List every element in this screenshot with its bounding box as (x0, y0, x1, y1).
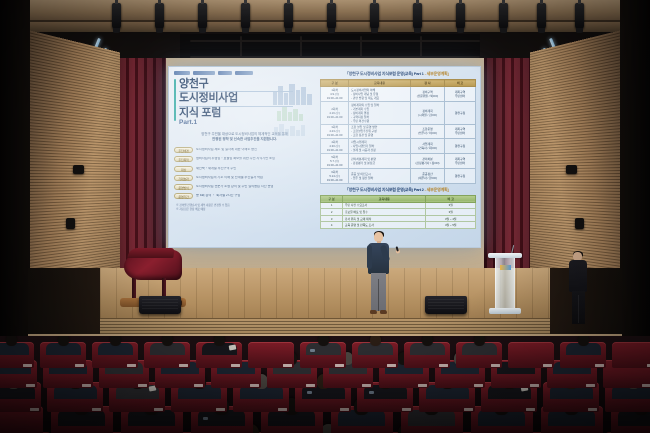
spotlight (537, 3, 546, 29)
table2-cell-no: 3 (321, 215, 343, 222)
auditorium-scene: 양천구 도시정비사업 지식 포럼 Part.1 양천구 주민을 대상으로 도시정… (0, 0, 650, 433)
table1-cell-session: 6회차5.14.(수)19:00~21:00 (321, 168, 349, 183)
table2-cell-no: 2 (321, 209, 343, 216)
bullet-row: 추진목적정비사업의 투명성・효율성 확보를 위한 주민 지식기반 조성 (174, 156, 315, 162)
table-row: 4회차4.30.(수)19:00~21:00사업시행계획- 사업시행인가 절차-… (321, 139, 476, 154)
bullet-badge: 대상 (174, 166, 193, 172)
table2-cell-content: 교육 운영 및 만족도 조사 (342, 222, 426, 229)
bullet-row: 운영기간총 6회 강의 ・ 회차별 2시간 구성 (174, 193, 315, 199)
slide-bullet-list: 추진배경도시정비사업 제도 및 절차에 대한 이해도 증진추진목적정비사업의 투… (174, 147, 315, 199)
slide-footnotes: ※ 강의별 진행순서 및 세부 내용은 변경될 수 있음※ 자료집은 현장 배포… (174, 204, 315, 212)
bullet-text: 도시정비사업 전문가 초청 강의 및 주민 질의응답 시간 운영 (196, 185, 273, 189)
wall-light-right (575, 218, 584, 229)
table2-cell-note: 3월 ~ 4월 (426, 215, 476, 222)
table-row: 4교육 운영 및 만족도 조사4월 ~ 5월 (321, 222, 476, 229)
table2-caption: 「양천구 도시정비사업 지식포럼 운영(교육) Part 2 - 세부운영계획」 (320, 187, 476, 193)
table2-column-header: 교육내용 (342, 195, 426, 202)
table2-cell-note: 3월 (426, 202, 476, 209)
slide-title-line-3: 지식 포럼 (179, 107, 315, 119)
seat-number-label (526, 408, 535, 411)
table2-column-header: 비 고 (426, 195, 476, 202)
seat-number-label (586, 384, 595, 387)
organization-logo-icon (218, 71, 232, 75)
table-row: 1회차4.9.(수)19:00~21:00도시정비사업의 이해- 정비사업 개념… (321, 87, 476, 102)
title-accent-bar (174, 79, 176, 121)
bullet-text: 도시정비사업 제도 및 절차에 대한 이해도 증진 (196, 148, 257, 152)
stage-monitor-speaker-left (139, 296, 181, 314)
seat-number-label (250, 384, 259, 387)
seat-number-label (92, 408, 101, 411)
table1-cell-session: 1회차4.9.(수)19:00~21:00 (321, 87, 349, 102)
phone-screen (203, 417, 208, 420)
wall-speaker-left (73, 165, 84, 174)
table2-cell-content: 강사 위촉 및 교재 제작 (342, 215, 426, 222)
handout-paper (228, 344, 236, 350)
audience-seat (508, 342, 554, 368)
presenter-shoe (380, 310, 387, 314)
phone-screen (310, 349, 315, 352)
bullet-text: 총 6회 강의 ・ 회차별 2시간 구성 (196, 194, 240, 198)
seat-number-label (595, 364, 604, 367)
table1-cell-lecturer: 사업계획(건축사 / 최OO) (410, 139, 444, 154)
table2-caption-text: 「양천구 도시정비사업 지식포럼 운영(교육) Part 2 (345, 187, 424, 192)
audience-member-head (58, 336, 69, 346)
wall-speaker-right (566, 165, 577, 174)
spotlight (499, 3, 508, 29)
table1-cell-content: 정비계획의 수립 및 절차- 기본계획 수립- 정비계획 결정- 구역지정 절차… (349, 101, 411, 124)
phone-screen (307, 391, 312, 394)
table1-header-row: 구 분교육내용강 사비 고 (321, 80, 476, 87)
presenter-shoes (370, 310, 387, 314)
table2-cell-no: 4 (321, 222, 343, 229)
audience-member-head (162, 336, 173, 346)
table2-cell-no: 1 (321, 202, 343, 209)
table-row: 5회차5.7.(수)19:00~21:00관리처분계획 및 분양- 감정평가 및… (321, 154, 476, 169)
footnote-line: ※ 자료집은 현장 배포 예정 (176, 208, 315, 212)
seat-number-label (335, 364, 344, 367)
piano-leg (132, 278, 136, 300)
audience-member-head (578, 336, 589, 346)
table2-cell-note: 3월 (426, 209, 476, 216)
wall-shadow-right (620, 0, 650, 340)
audience-member-head (214, 336, 225, 346)
organization-logo-icon (193, 71, 215, 75)
seat-number-label (464, 408, 473, 411)
seat-number-label (362, 384, 371, 387)
table1-cell-session: 3회차4.23.(수)19:00~21:00 (321, 124, 349, 139)
bullet-badge: 운영기간 (174, 193, 193, 199)
table-row: 2홍보물 배포 및 접수3월 (321, 209, 476, 216)
spotlight (370, 3, 379, 29)
slide-title-line-1: 양천구 (179, 78, 315, 90)
spotlight (112, 3, 121, 29)
bullet-badge: 추진목적 (174, 156, 193, 162)
table2-cell-note: 4월 ~ 5월 (426, 222, 476, 229)
phone-screen (369, 391, 374, 394)
audience-member-head (110, 336, 121, 346)
audience-seat (612, 342, 650, 368)
staff-torso (569, 260, 587, 292)
table2-column-header: 구 분 (321, 195, 343, 202)
seat-number-label (216, 408, 225, 411)
seat-number-label (138, 384, 147, 387)
bullet-row: 운영방식도시정비사업 전문가 초청 강의 및 주민 질의응답 시간 운영 (174, 184, 315, 190)
presenter (366, 232, 392, 322)
seat-number-label (642, 384, 650, 387)
presenter-arm-left (367, 245, 372, 269)
table2-cell-content: 주민 사전 수요조사 (342, 202, 426, 209)
table1-cell-note: 양천구청 (445, 101, 476, 124)
audience-seating (0, 336, 650, 433)
table1-column-header: 비 고 (445, 80, 476, 87)
table1-cell-content: 도시정비사업의 이해- 정비사업 개념 및 유형- 관련 법령 및 제도 개요 (349, 87, 411, 102)
seat-number-label (194, 384, 203, 387)
staff-legs (572, 291, 585, 324)
slide-title-part: Part.1 (179, 119, 315, 126)
staff-member (567, 252, 589, 328)
table1-caption-text: 「양천구 도시정비사업 지식포럼 운영(교육) Part 1 (345, 71, 424, 76)
seat-number-label (231, 364, 240, 367)
table1-cell-content: 조합 설립 및 운영 방안- 조합설립추진위 구성- 조합 정관 및 운영 (349, 124, 411, 139)
seat-number-label (127, 364, 136, 367)
schedule-table-part1: 구 분교육내용강 사비 고 1회차4.9.(수)19:00~21:00도시정비사… (320, 79, 476, 184)
spotlight (327, 3, 336, 29)
bullet-text: 정비사업의 투명성・효율성 확보를 위한 주민 지식기반 조성 (196, 157, 275, 161)
audience-member-head (370, 336, 381, 346)
table2-cell-content: 홍보물 배포 및 접수 (342, 209, 426, 216)
seat-number-label (283, 364, 292, 367)
audience-member-head (422, 336, 433, 346)
table1-caption: 「양천구 도시정비사업 지식포럼 운영(교육) Part 1 - 세부운영계획」 (320, 71, 476, 77)
seat-number-label (491, 364, 500, 367)
table1-cell-session: 2회차4.16.(수)19:00~21:00 (321, 101, 349, 124)
bullet-row: 추진배경도시정비사업 제도 및 절차에 대한 이해도 증진 (174, 147, 315, 153)
table1-cell-note: 개최구역주민센터 (445, 124, 476, 139)
audience-member-head (6, 336, 17, 346)
seat-number-label (23, 364, 32, 367)
table1-column-header: 교육내용 (349, 80, 411, 87)
organization-logo-icon (235, 71, 253, 75)
bullet-badge: 기대효과 (174, 175, 193, 181)
bullet-text: 재건축・재개발 추진구역 주민 (196, 167, 236, 171)
table1-cell-lecturer: 준공정산(세무사 / 한OO) (410, 168, 444, 183)
slide-title-line-2: 도시정비사업 (179, 92, 315, 104)
audience-member-head (318, 336, 329, 346)
podium-display (500, 265, 511, 270)
wall-shadow-left (0, 0, 30, 340)
seat-number-label (75, 364, 84, 367)
audience-seat (248, 342, 294, 368)
presenter-shoe (370, 310, 377, 314)
ceiling-truss (190, 40, 480, 42)
table1-cell-note: 개최구역주민센터 (445, 154, 476, 169)
seat-number-label (30, 408, 39, 411)
seat-number-label (439, 364, 448, 367)
seat-number-label (340, 408, 349, 411)
table1-cell-session: 4회차4.30.(수)19:00~21:00 (321, 139, 349, 154)
table1-cell-content: 관리처분계획 및 분양- 감정평가 및 분담금 (349, 154, 411, 169)
table2-wrapper: 「양천구 도시정비사업 지식포럼 운영(교육) Part 2 - 세부운영계획」… (320, 187, 476, 230)
bullet-text: 도시정비사업의 기초 이해 및 단계별 추진절차 학습 (196, 176, 263, 180)
bullet-row: 대상재건축・재개발 추진구역 주민 (174, 166, 315, 172)
table1-cell-note: 양천구청 (445, 139, 476, 154)
audience-member-head (474, 336, 485, 346)
seat-number-label (588, 408, 597, 411)
table1-cell-session: 5회차5.7.(수)19:00~21:00 (321, 154, 349, 169)
table1-body: 1회차4.9.(수)19:00~21:00도시정비사업의 이해- 정비사업 개념… (321, 87, 476, 184)
seat-number-label (179, 364, 188, 367)
seat-number-label (530, 384, 539, 387)
slide-right-panel: 「양천구 도시정비사업 지식포럼 운영(교육) Part 1 - 세부운영계획」… (318, 67, 480, 247)
table-row: 2회차4.16.(수)19:00~21:00정비계획의 수립 및 절차- 기본계… (321, 101, 476, 124)
seat-number-label (278, 408, 287, 411)
table1-cell-lecturer: 정비구역(전문위원 / 박OO) (410, 87, 444, 102)
seat-number-label (306, 384, 315, 387)
podium-base (489, 308, 521, 314)
table1-caption-accent: - 세부운영계획」 (424, 71, 452, 76)
spotlight (456, 3, 465, 29)
seat-number-label (387, 364, 396, 367)
table1-column-header: 구 분 (321, 80, 349, 87)
slide-title-block: 양천구 도시정비사업 지식 포럼 Part.1 (174, 78, 315, 126)
table1-cell-lecturer: 관리처분(감정평가사 / 정OO) (410, 154, 444, 169)
seat-number-label (543, 364, 552, 367)
table2-header-row: 구 분교육내용비 고 (321, 195, 476, 202)
seat-number-label (402, 408, 411, 411)
table-row: 1주민 사전 수요조사3월 (321, 202, 476, 209)
seat-number-label (418, 384, 427, 387)
table1-cell-lecturer: 정비계획(시의원 / 김OO) (410, 101, 444, 124)
table1-cell-note: 양천구청 (445, 168, 476, 183)
organization-logo-icon (174, 71, 190, 75)
seat-number-label (154, 408, 163, 411)
slide-left-panel: 양천구 도시정비사업 지식 포럼 Part.1 양천구 주민을 대상으로 도시정… (169, 67, 318, 247)
bullet-badge: 운영방식 (174, 184, 193, 190)
presenter-trousers (371, 273, 386, 311)
spotlight (241, 3, 250, 29)
slide-logo-strip (174, 71, 315, 75)
table1-cell-note: 개최구역주민센터 (445, 87, 476, 102)
table2-body: 1주민 사전 수요조사3월2홍보물 배포 및 접수3월3강사 위촉 및 교재 제… (321, 202, 476, 229)
seat-number-label (82, 384, 91, 387)
acrylic-podium (488, 253, 522, 315)
table1-cell-content: 사업시행계획- 사업시행인가 절차- 설계 및 시공자 선정 (349, 139, 411, 154)
table-row: 3회차4.23.(수)19:00~21:00조합 설립 및 운영 방안- 조합설… (321, 124, 476, 139)
bullet-badge: 추진배경 (174, 147, 193, 153)
stage-monitor-speaker-right (425, 296, 467, 314)
spotlight (284, 3, 293, 29)
seat-number-label (474, 384, 483, 387)
table1-cell-content: 준공 및 이전고시- 입주 및 청산 절차 (349, 168, 411, 183)
spotlight (198, 3, 207, 29)
spotlight (575, 3, 584, 29)
wall-light-left (66, 218, 75, 229)
schedule-table-part2: 구 분교육내용비 고 1주민 사전 수요조사3월2홍보물 배포 및 접수3월3강… (320, 195, 476, 230)
presentation-slide: 양천구 도시정비사업 지식 포럼 Part.1 양천구 주민을 대상으로 도시정… (169, 67, 480, 247)
table1-column-header: 강 사 (410, 80, 444, 87)
spotlight (413, 3, 422, 29)
spotlight (155, 3, 164, 29)
table1-cell-lecturer: 조합운영(법무사 / 이OO) (410, 124, 444, 139)
seat-number-label (26, 384, 35, 387)
table-row: 3강사 위촉 및 교재 제작3월 ~ 4월 (321, 215, 476, 222)
table2-caption-accent: - 세부운영계획」 (424, 187, 452, 192)
projection-screen: 양천구 도시정비사업 지식 포럼 Part.1 양천구 주민을 대상으로 도시정… (168, 66, 481, 248)
table-row: 6회차5.14.(수)19:00~21:00준공 및 이전고시- 입주 및 청산… (321, 168, 476, 183)
piano-lid (127, 248, 174, 258)
bullet-row: 기대효과도시정비사업의 기초 이해 및 단계별 추진절차 학습 (174, 175, 315, 181)
